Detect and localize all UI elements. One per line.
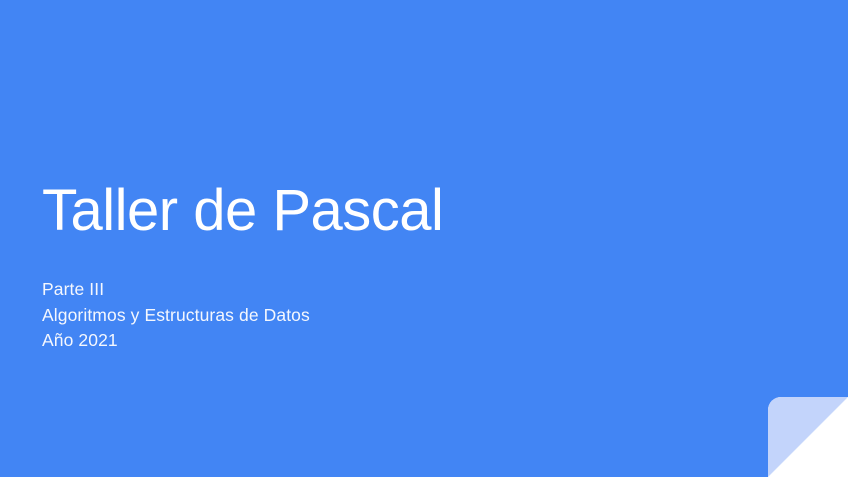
subtitle-block: Parte III Algoritmos y Estructuras de Da… [42, 277, 682, 354]
presentation-title-slide: Taller de Pascal Parte III Algoritmos y … [0, 0, 848, 477]
page-title: Taller de Pascal [42, 178, 682, 244]
subtitle-line-part: Parte III [42, 277, 682, 303]
curl-fold-shape [768, 397, 848, 477]
subtitle-line-year: Año 2021 [42, 328, 682, 354]
title-text-block: Taller de Pascal Parte III Algoritmos y … [42, 178, 682, 354]
page-curl-corner-decoration [768, 397, 848, 477]
subtitle-line-course: Algoritmos y Estructuras de Datos [42, 303, 682, 329]
